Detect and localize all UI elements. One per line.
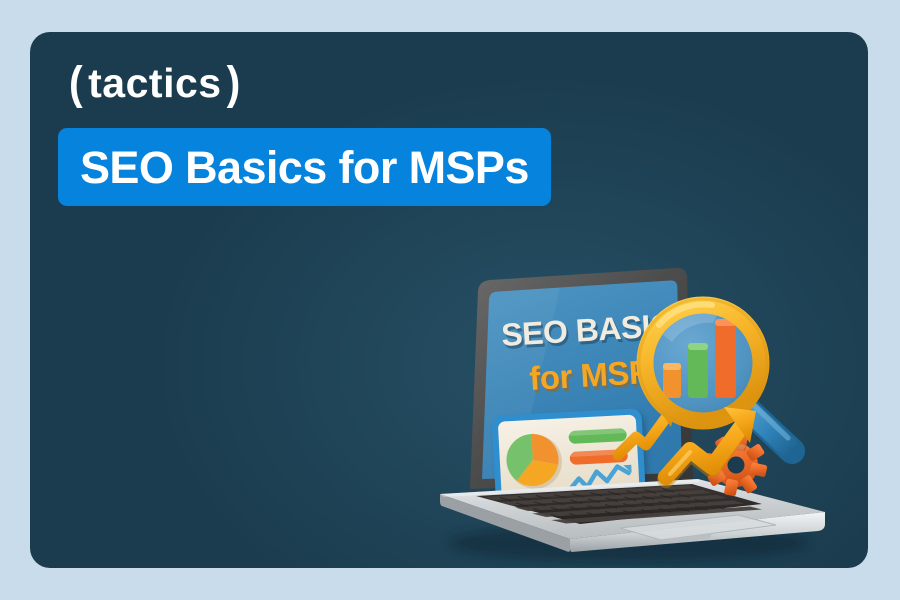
- eyebrow-tactics: (tactics): [64, 63, 246, 104]
- poster-card: (tactics) SEO Basics for MSPs: [30, 32, 868, 568]
- page-title: SEO Basics for MSPs: [80, 145, 529, 190]
- title-banner: SEO Basics for MSPs: [58, 128, 551, 206]
- eyebrow-label: tactics: [88, 60, 221, 106]
- bracket-open-icon: (: [69, 61, 83, 107]
- poster-canvas: (tactics) SEO Basics for MSPs: [0, 0, 900, 600]
- seo-illustration: SEO BASICS SEO BASICS for MSPs for MSPs: [420, 247, 840, 567]
- bracket-close-icon: ): [227, 61, 241, 107]
